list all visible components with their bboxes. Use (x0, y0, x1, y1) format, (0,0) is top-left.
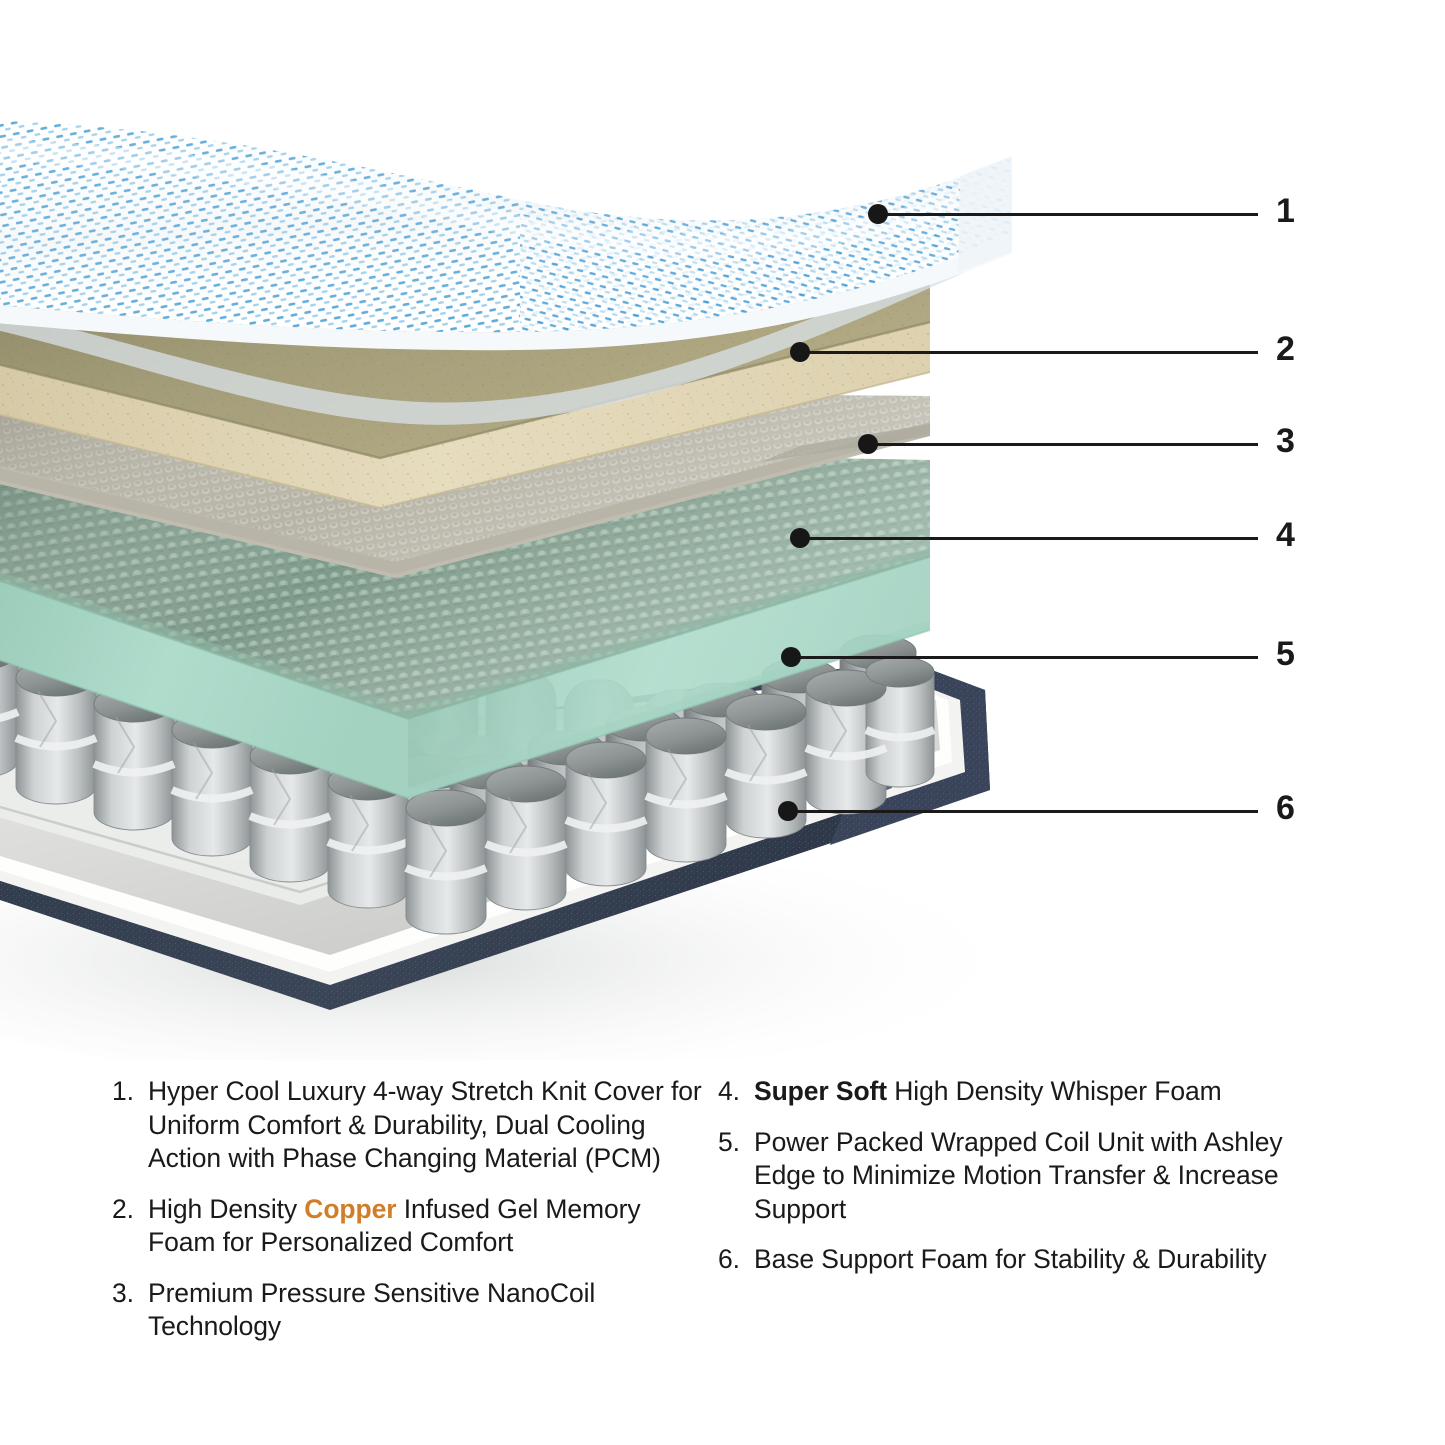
legend-item-text: Hyper Cool Luxury 4-way Stretch Knit Cov… (148, 1076, 702, 1173)
callout-number-5: 5 (1276, 637, 1295, 671)
leader-dot-5 (781, 647, 801, 667)
feature-legend: 1.Hyper Cool Luxury 4-way Stretch Knit C… (0, 1075, 1445, 1445)
copper-highlight: Copper (304, 1194, 396, 1224)
callout-number-2: 2 (1276, 332, 1295, 366)
leader-line-4 (800, 537, 1258, 540)
legend-item-number: 3. (112, 1277, 142, 1311)
legend-item-number: 4. (718, 1075, 748, 1109)
mattress-layer-diagram-page: 1 2 3 4 5 6 1.Hyper Cool Luxury 4-way St… (0, 0, 1445, 1445)
legend-item: 4.Super Soft High Density Whisper Foam (718, 1075, 1318, 1109)
leader-dot-2 (790, 342, 810, 362)
leader-line-1 (878, 213, 1258, 216)
legend-item-number: 2. (112, 1193, 142, 1227)
callout-number-6: 6 (1276, 791, 1295, 825)
leader-line-2 (800, 351, 1258, 354)
leader-dot-3 (858, 434, 878, 454)
callout-number-4: 4 (1276, 518, 1295, 552)
legend-item-text: Power Packed Wrapped Coil Unit with Ashl… (754, 1127, 1283, 1224)
mattress-cutaway-illustration (0, 0, 1445, 1060)
legend-item-text: High Density Copper Infused Gel Memory F… (148, 1194, 641, 1258)
callout-number-1: 1 (1276, 194, 1295, 228)
legend-item-number: 6. (718, 1243, 748, 1277)
legend-item: 3.Premium Pressure Sensitive NanoCoil Te… (112, 1277, 702, 1344)
legend-item-text: Base Support Foam for Stability & Durabi… (754, 1244, 1267, 1274)
callout-number-3: 3 (1276, 424, 1295, 458)
legend-item: 2.High Density Copper Infused Gel Memory… (112, 1193, 702, 1260)
legend-item-text: Premium Pressure Sensitive NanoCoil Tech… (148, 1278, 595, 1342)
legend-item: 1.Hyper Cool Luxury 4-way Stretch Knit C… (112, 1075, 702, 1176)
leader-dot-6 (778, 801, 798, 821)
legend-item: 5.Power Packed Wrapped Coil Unit with As… (718, 1126, 1318, 1227)
legend-item-number: 5. (718, 1126, 748, 1160)
legend-column-right: 4.Super Soft High Density Whisper Foam5.… (718, 1075, 1318, 1294)
legend-item: 6.Base Support Foam for Stability & Dura… (718, 1243, 1318, 1277)
leader-dot-1 (868, 204, 888, 224)
leader-line-5 (791, 656, 1258, 659)
leader-line-3 (868, 443, 1258, 446)
legend-column-left: 1.Hyper Cool Luxury 4-way Stretch Knit C… (112, 1075, 702, 1361)
leader-line-6 (788, 810, 1258, 813)
legend-item-number: 1. (112, 1075, 142, 1109)
legend-item-text: Super Soft High Density Whisper Foam (754, 1076, 1222, 1106)
leader-dot-4 (790, 528, 810, 548)
